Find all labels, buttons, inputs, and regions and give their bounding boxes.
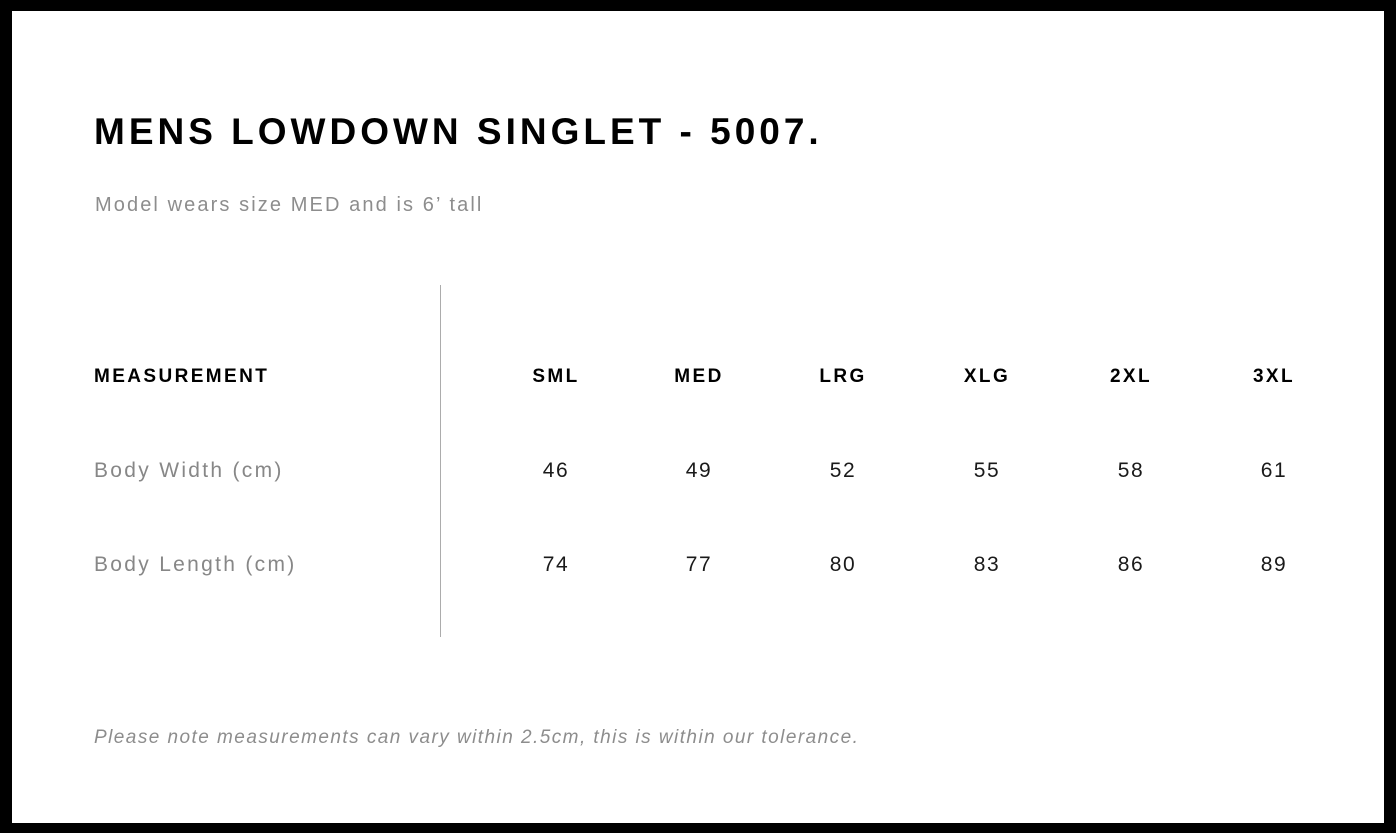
cell-body-length-sml: 74 <box>486 545 626 585</box>
cell-body-length-3xl: 89 <box>1204 545 1344 585</box>
cell-body-width-sml: 46 <box>486 451 626 491</box>
cell-body-width-lrg: 52 <box>773 451 913 491</box>
table-row: Body Width (cm) 46 49 52 55 58 61 <box>12 451 1384 491</box>
row-label-body-length: Body Length (cm) <box>94 545 297 585</box>
cell-body-length-xlg: 83 <box>917 545 1057 585</box>
size-chart-page: MENS LOWDOWN SINGLET - 5007. Model wears… <box>12 11 1384 823</box>
cell-body-length-med: 77 <box>629 545 769 585</box>
cell-body-width-xlg: 55 <box>917 451 1057 491</box>
table-header-row: MEASUREMENT SML MED LRG XLG 2XL 3XL <box>12 357 1384 397</box>
cell-body-length-lrg: 80 <box>773 545 913 585</box>
column-header-lrg: LRG <box>773 357 913 397</box>
column-header-med: MED <box>629 357 769 397</box>
column-header-measurement: MEASUREMENT <box>94 357 269 397</box>
row-label-body-width: Body Width (cm) <box>94 451 284 491</box>
column-header-3xl: 3XL <box>1204 357 1344 397</box>
column-header-xlg: XLG <box>917 357 1057 397</box>
table-row: Body Length (cm) 74 77 80 83 86 89 <box>12 545 1384 585</box>
column-header-2xl: 2XL <box>1061 357 1201 397</box>
outer-frame: MENS LOWDOWN SINGLET - 5007. Model wears… <box>0 0 1396 833</box>
cell-body-width-med: 49 <box>629 451 769 491</box>
cell-body-length-2xl: 86 <box>1061 545 1201 585</box>
size-chart-table: MEASUREMENT SML MED LRG XLG 2XL 3XL Body… <box>12 11 1384 823</box>
cell-body-width-3xl: 61 <box>1204 451 1344 491</box>
column-header-sml: SML <box>486 357 626 397</box>
tolerance-footnote: Please note measurements can vary within… <box>94 727 859 750</box>
cell-body-width-2xl: 58 <box>1061 451 1201 491</box>
